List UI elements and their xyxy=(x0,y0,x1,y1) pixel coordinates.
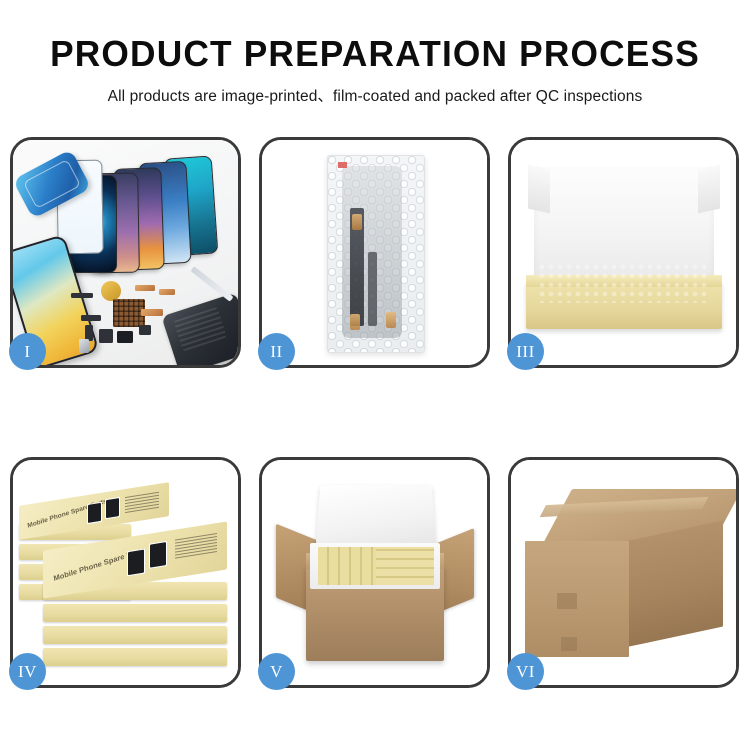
packed-retail-boxes-stack xyxy=(376,547,434,585)
carton-front-face xyxy=(525,541,629,657)
red-qc-sticker xyxy=(338,162,347,168)
step-image-4: Mobile Phone Spare Parts Mobile Phone Sp… xyxy=(13,460,238,685)
header: PRODUCT PREPARATION PROCESS All products… xyxy=(0,0,750,106)
step-image-1 xyxy=(13,140,238,365)
kraft-tray-base xyxy=(526,281,722,329)
display-flex-strip-secondary xyxy=(368,252,377,326)
part-camera-module xyxy=(99,329,113,343)
box-art-screen-front-1 xyxy=(127,548,145,576)
step-badge-1: I xyxy=(9,333,46,370)
foam-liner-lid xyxy=(315,485,436,545)
part-flex-cable-b xyxy=(159,289,175,295)
step-badge-2: II xyxy=(258,333,295,370)
sealed-carton-assembly xyxy=(525,489,723,657)
bubble-wrap-bag xyxy=(327,155,425,353)
carton-seam-tab-upper xyxy=(557,593,577,609)
step-panel-6[interactable]: VI xyxy=(508,457,739,688)
box-spec-lines-front xyxy=(175,533,217,561)
part-ic-chip xyxy=(117,331,133,343)
kraft-tray-assembly xyxy=(526,167,722,337)
part-rear-housing xyxy=(161,292,238,365)
part-bracket-a xyxy=(81,315,101,321)
retail-box-stack: Mobile Phone Spare Parts Mobile Phone Sp… xyxy=(19,482,237,672)
step-badge-4: IV xyxy=(9,653,46,690)
part-flex-cable-c xyxy=(141,309,163,316)
stacked-box-front-3 xyxy=(43,626,227,644)
carton-side-face xyxy=(627,520,723,646)
page-subtitle: All products are image-printed、film-coat… xyxy=(0,84,750,106)
step-panel-1[interactable]: I xyxy=(10,137,241,368)
step-image-6 xyxy=(511,460,736,685)
open-carton-assembly xyxy=(280,477,470,667)
step-image-5 xyxy=(262,460,487,685)
box-art-screen-back-2 xyxy=(105,497,120,519)
part-flex-cable-a xyxy=(135,285,155,291)
step-image-2 xyxy=(262,140,487,365)
step-badge-6: VI xyxy=(507,653,544,690)
step-panel-2[interactable]: II xyxy=(259,137,490,368)
part-gold-coil xyxy=(101,281,121,301)
gold-connector-bottom-left xyxy=(350,314,360,330)
page-title: PRODUCT PREPARATION PROCESS xyxy=(8,34,743,74)
part-metal-shield xyxy=(79,339,89,353)
carton-seam-tab-lower xyxy=(561,637,577,651)
box-spec-lines-back xyxy=(125,492,159,515)
step-image-3 xyxy=(511,140,736,365)
box-art-screen-back-1 xyxy=(87,502,102,524)
step-badge-5: V xyxy=(258,653,295,690)
step-panel-3[interactable]: III xyxy=(508,137,739,368)
repair-parts-group xyxy=(71,275,238,361)
part-button-set xyxy=(139,325,151,335)
stacked-box-front-2 xyxy=(43,604,227,622)
stacked-box-front-4 xyxy=(43,648,227,666)
box-art-screen-front-2 xyxy=(149,541,167,569)
step-panel-4[interactable]: Mobile Phone Spare Parts Mobile Phone Sp… xyxy=(10,457,241,688)
gold-connector-top xyxy=(352,214,362,230)
part-speaker-mesh xyxy=(71,293,93,298)
process-steps-grid: I II xyxy=(10,137,740,688)
bubble-wrapped-contents xyxy=(538,263,710,303)
step-panel-5[interactable]: V xyxy=(259,457,490,688)
step-badge-3: III xyxy=(507,333,544,370)
gold-connector-bottom-right xyxy=(386,312,396,328)
